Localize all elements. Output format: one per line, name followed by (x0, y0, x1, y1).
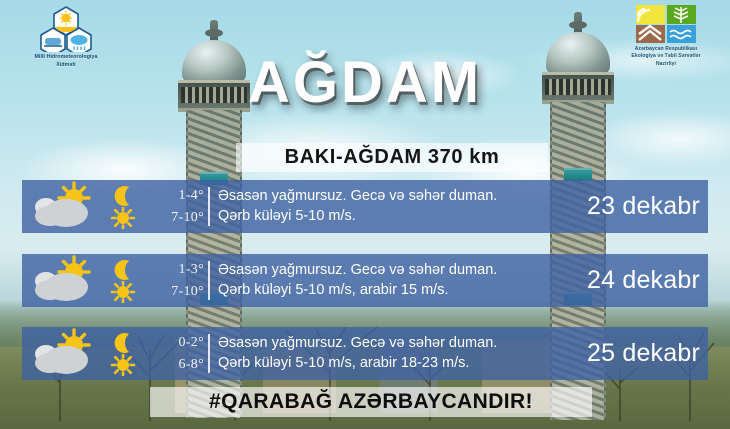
forecast-description: Əsasən yağmursuz. Gecə və səhər duman. Q… (208, 187, 570, 226)
forecast-date: 25 dekabr (570, 339, 708, 368)
night-temperature: 1-3° (108, 259, 204, 281)
forecast-row: 0-2° 6-8° Əsasən yağmursuz. Gecə və səhə… (22, 327, 708, 380)
description-line2: Qərb küləyi 5-10 m/s, arabir 15 m/s. (218, 281, 570, 301)
description-line1: Əsasən yağmursuz. Gecə və səhər duman. (218, 261, 570, 281)
sun-icon (108, 207, 142, 229)
temperature-column: 1-3° 7-10° (108, 254, 208, 307)
day-temperature: 6-8° (108, 354, 204, 376)
day-temp-value: 7-10° (142, 284, 204, 300)
night-temp-value: 0-2° (142, 335, 204, 351)
description-line2: Qərb küləyi 5-10 m/s. (218, 207, 570, 227)
description-line1: Əsasən yağmursuz. Gecə və səhər duman. (218, 334, 570, 354)
forecast-row: 1-4° 7-10° Əsasən yağmursuz. Gecə və səh… (22, 180, 708, 233)
partly-cloudy-icon (22, 327, 108, 380)
day-temp-value: 6-8° (142, 357, 204, 373)
logo-mark (14, 6, 118, 52)
sun-icon (108, 281, 142, 303)
night-temp-value: 1-3° (142, 262, 204, 278)
forecast-date: 23 dekabr (570, 192, 708, 221)
description-line1: Əsasən yağmursuz. Gecə və səhər duman. (218, 187, 570, 207)
night-temp-value: 1-4° (142, 188, 204, 204)
forecast-description: Əsasən yağmursuz. Gecə və səhər duman. Q… (208, 261, 570, 300)
crescent-moon-icon (108, 332, 142, 354)
page-title: AĞDAM (0, 49, 730, 116)
four-quadrant-nature-icon (635, 4, 697, 44)
partly-cloudy-icon (22, 180, 108, 233)
temperature-column: 0-2° 6-8° (108, 327, 208, 380)
partly-cloudy-icon (22, 254, 108, 307)
forecast-description: Əsasən yağmursuz. Gecə və səhər duman. Q… (208, 334, 570, 373)
description-line2: Qərb küləyi 5-10 m/s, arabir 18-23 m/s. (218, 354, 570, 374)
forecast-row: 1-3° 7-10° Əsasən yağmursuz. Gecə və səh… (22, 254, 708, 307)
day-temp-value: 7-10° (142, 210, 204, 226)
distance-banner: BAKI-AĞDAM 370 km (236, 143, 548, 172)
weather-forecast-poster: Milli Hidrometeorologiya Xidməti (0, 0, 730, 429)
hashtag-banner: #QARABAĞ AZƏRBAYCANDIR! (150, 387, 592, 417)
sun-icon (108, 354, 142, 376)
night-temperature: 1-4° (108, 185, 204, 207)
crescent-moon-icon (108, 259, 142, 281)
forecast-date: 24 dekabr (570, 266, 708, 295)
hexagon-weather-icon (38, 6, 94, 52)
day-temperature: 7-10° (108, 281, 204, 303)
temperature-column: 1-4° 7-10° (108, 180, 208, 233)
day-temperature: 7-10° (108, 207, 204, 229)
logo-mark (610, 4, 722, 44)
night-temperature: 0-2° (108, 332, 204, 354)
crescent-moon-icon (108, 185, 142, 207)
